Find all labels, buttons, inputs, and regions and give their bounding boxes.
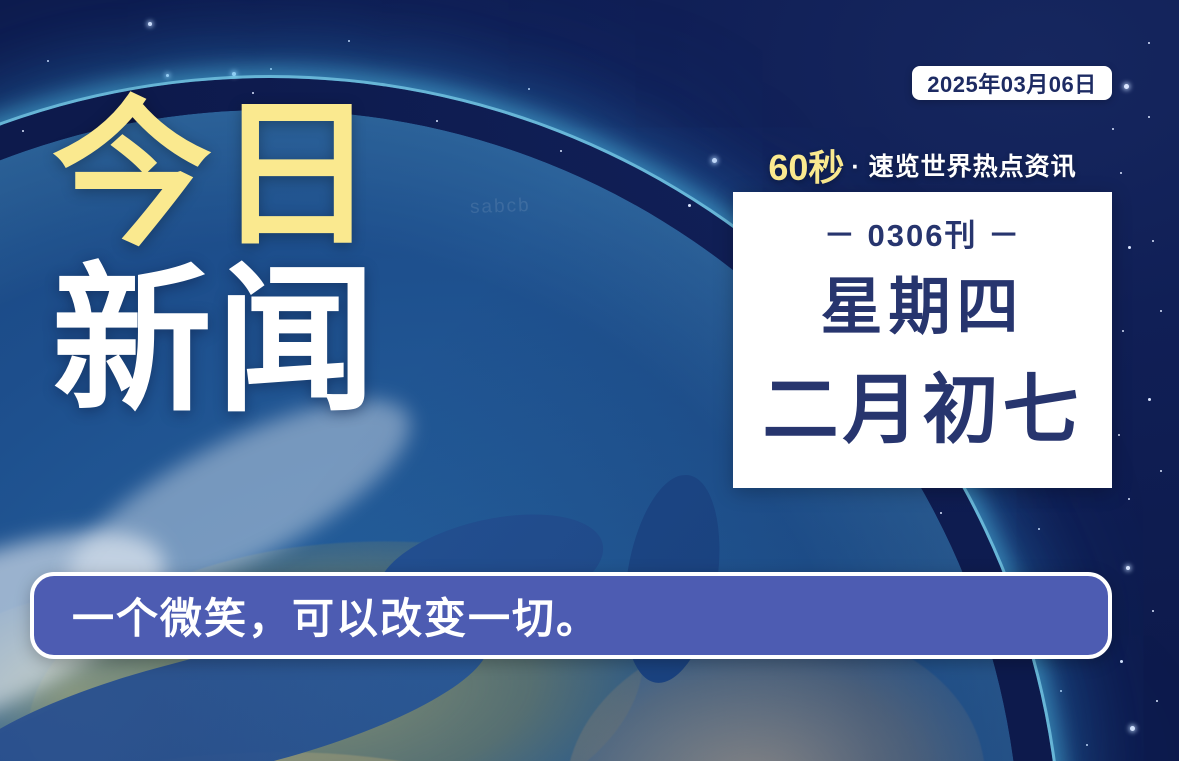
news-poster: sabcb 今日 新闻 2025年03月06日 60秒 · 速览世界热点资讯 －…: [0, 0, 1179, 761]
title-line-secondary: 新闻: [52, 264, 482, 418]
issue-number: － 0306刊 －: [824, 210, 1021, 255]
tagline-highlight: 60秒: [768, 139, 844, 191]
date-badge: 2025年03月06日: [912, 66, 1112, 100]
lunar-date-label: 二月初七: [763, 373, 1083, 449]
title-line-primary: 今日: [52, 98, 482, 252]
weekday-label: 星期四: [820, 277, 1024, 339]
quote-bar: 一个微笑，可以改变一切。: [30, 572, 1112, 659]
tagline-rest: · 速览世界热点资讯: [851, 147, 1076, 183]
info-card: － 0306刊 － 星期四 二月初七: [733, 192, 1112, 488]
tagline: 60秒 · 速览世界热点资讯: [733, 143, 1112, 187]
quote-text: 一个微笑，可以改变一切。: [72, 585, 600, 646]
page-title: 今日 新闻: [52, 98, 482, 417]
